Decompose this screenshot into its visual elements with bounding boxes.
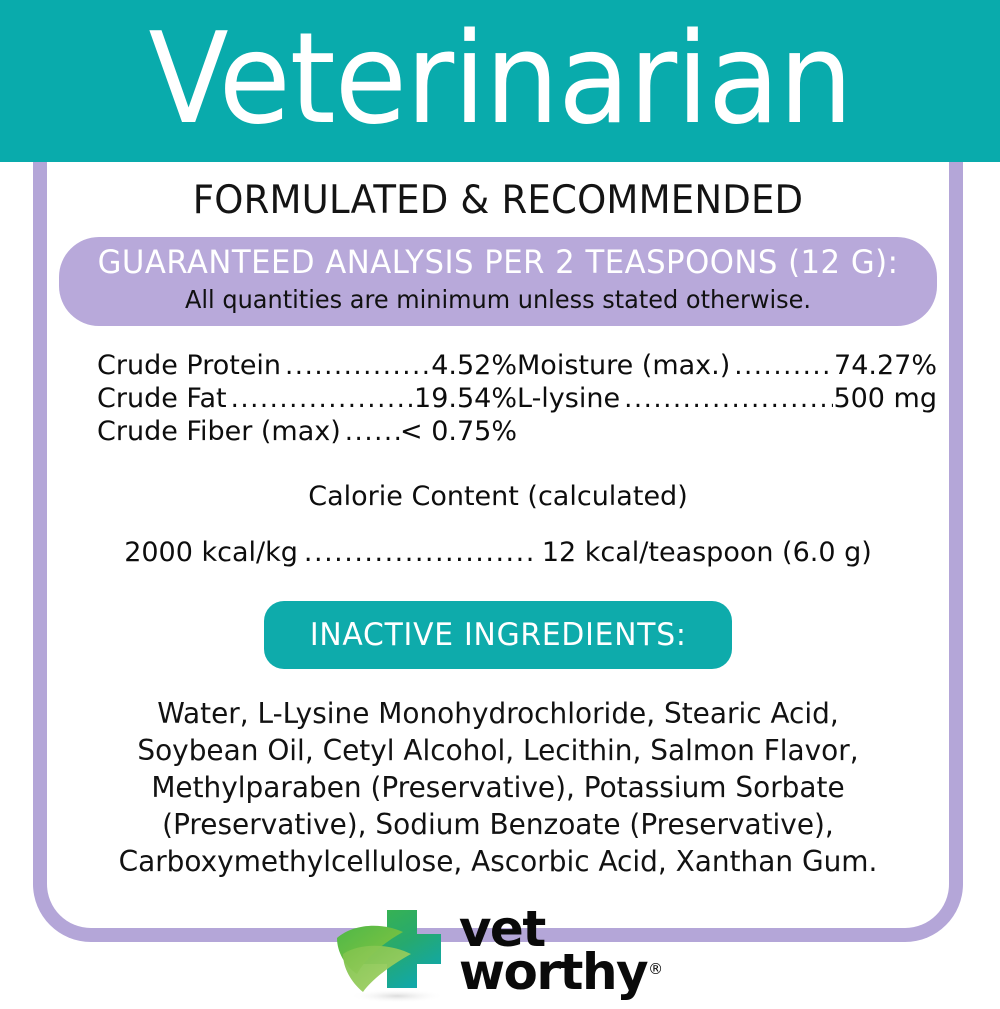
calorie-content-heading: Calorie Content (calculated) xyxy=(49,481,947,512)
analysis-row: L-lysine ............................ 50… xyxy=(517,383,937,416)
analysis-value: < 0.75% xyxy=(400,416,517,449)
analysis-column-left: Crude Protein .................... 4.52%… xyxy=(97,350,517,449)
logo-wordmark: vet worthy ® xyxy=(459,908,663,994)
analysis-label: Crude Fat xyxy=(97,383,227,416)
inactive-ingredients-pill: INACTIVE INGREDIENTS: xyxy=(264,601,732,669)
analysis-dots: ............................ xyxy=(620,384,833,416)
calorie-basis: 2000 kcal/kg xyxy=(124,537,298,568)
analysis-value: 500 mg xyxy=(833,383,937,416)
analysis-row: Crude Fiber (max) .......... < 0.75% xyxy=(97,416,517,449)
registered-trademark-icon: ® xyxy=(648,963,663,976)
subtitle-formulated-recommended: FORMULATED & RECOMMENDED xyxy=(71,178,924,223)
analysis-label: Moisture (max.) xyxy=(517,350,730,383)
inactive-ingredients-text: Water, L-Lysine Monohydrochloride, Stear… xyxy=(58,695,938,880)
analysis-dots: ............. xyxy=(730,351,834,383)
guaranteed-analysis-table: Crude Protein .................... 4.52%… xyxy=(49,350,947,449)
header-band: Veterinarian xyxy=(0,0,1000,162)
ingredients-line: Water, L-Lysine Monohydrochloride, Stear… xyxy=(103,695,893,732)
analysis-value: 74.27% xyxy=(834,350,937,383)
analysis-value: 19.54% xyxy=(414,383,517,416)
ingredients-line: Carboxymethylcellulose, Ascorbic Acid, X… xyxy=(103,843,893,880)
analysis-label: L-lysine xyxy=(517,383,620,416)
analysis-dots: .......... xyxy=(341,417,400,449)
inactive-ingredients-label: INACTIVE INGREDIENTS: xyxy=(310,617,687,653)
analysis-row: Moisture (max.) ............. 74.27% xyxy=(517,350,937,383)
analysis-dots: .......................... xyxy=(227,384,414,416)
guaranteed-analysis-banner: GUARANTEED ANALYSIS PER 2 TEASPOONS (12 … xyxy=(59,237,937,326)
analysis-label: Crude Protein xyxy=(97,350,281,383)
calorie-dots: ....................... xyxy=(298,537,542,568)
page-title: Veterinarian xyxy=(148,16,852,142)
analysis-value: 4.52% xyxy=(431,350,517,383)
ingredients-line: Methylparaben (Preservative), Potassium … xyxy=(103,769,893,806)
analysis-label: Crude Fiber (max) xyxy=(97,416,341,449)
logo-word-worthy: worthy xyxy=(459,951,647,994)
brand-logo: vet worthy ® xyxy=(49,898,947,1004)
analysis-row: Crude Protein .................... 4.52% xyxy=(97,350,517,383)
analysis-row: Crude Fat .......................... 19.… xyxy=(97,383,517,416)
calorie-value: 12 kcal/teaspoon (6.0 g) xyxy=(542,537,872,568)
analysis-column-right: Moisture (max.) ............. 74.27% L-l… xyxy=(517,350,937,449)
guaranteed-analysis-note: All quantities are minimum unless stated… xyxy=(77,284,920,315)
analysis-dots: .................... xyxy=(281,351,431,383)
ingredients-line: (Preservative), Sodium Benzoate (Preserv… xyxy=(103,806,893,843)
guaranteed-analysis-title: GUARANTEED ANALYSIS PER 2 TEASPOONS (12 … xyxy=(77,244,920,282)
leaf-cross-icon xyxy=(333,898,459,1004)
logo-word-worthy-row: worthy ® xyxy=(459,951,663,994)
calorie-content-row: 2000 kcal/kg ....................... 12 … xyxy=(49,537,947,568)
label-content: FORMULATED & RECOMMENDED GUARANTEED ANAL… xyxy=(33,162,963,962)
ingredients-line: Soybean Oil, Cetyl Alcohol, Lecithin, Sa… xyxy=(103,732,893,769)
